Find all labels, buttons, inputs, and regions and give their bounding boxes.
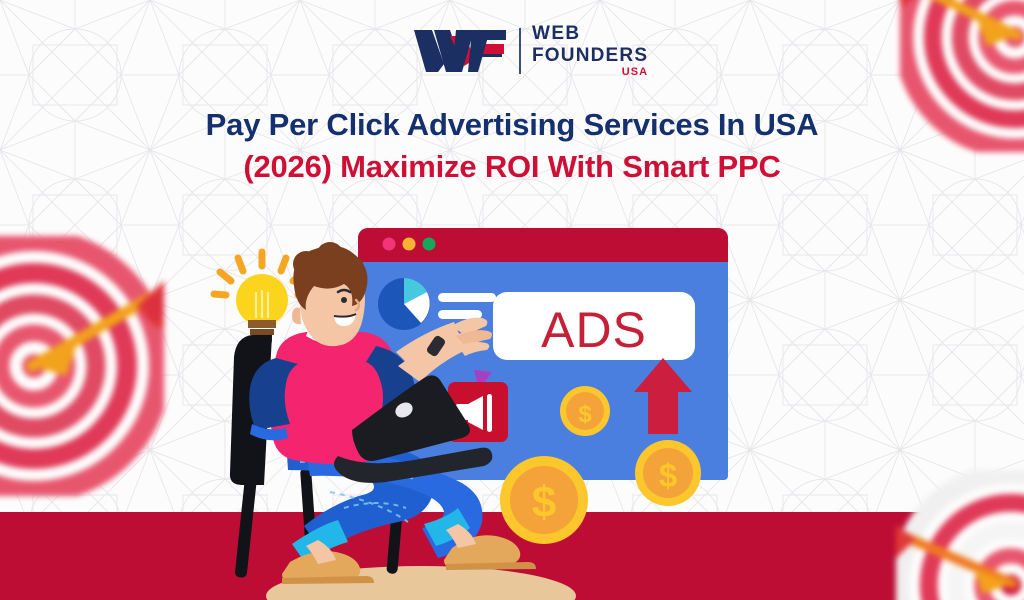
browser-dot-green: [423, 238, 436, 251]
coin-large: $: [500, 456, 588, 544]
chart-bar-2: [438, 310, 482, 319]
browser-dot-amber: [403, 238, 416, 251]
browser-dot-pink: [383, 238, 396, 251]
svg-text:$: $: [578, 401, 592, 428]
coin-small: $: [560, 386, 610, 436]
svg-text:$: $: [659, 457, 677, 494]
hero-illustration: ADS $ $ $: [0, 0, 1024, 600]
ads-search-box: ADS: [493, 292, 695, 360]
chart-bar-1: [438, 293, 496, 302]
coin-medium: $: [635, 440, 701, 506]
svg-text:$: $: [532, 478, 556, 527]
ads-label: ADS: [541, 302, 647, 358]
ppc-banner: WEB FOUNDERS USA Pay Per Click Advertisi…: [0, 0, 1024, 600]
